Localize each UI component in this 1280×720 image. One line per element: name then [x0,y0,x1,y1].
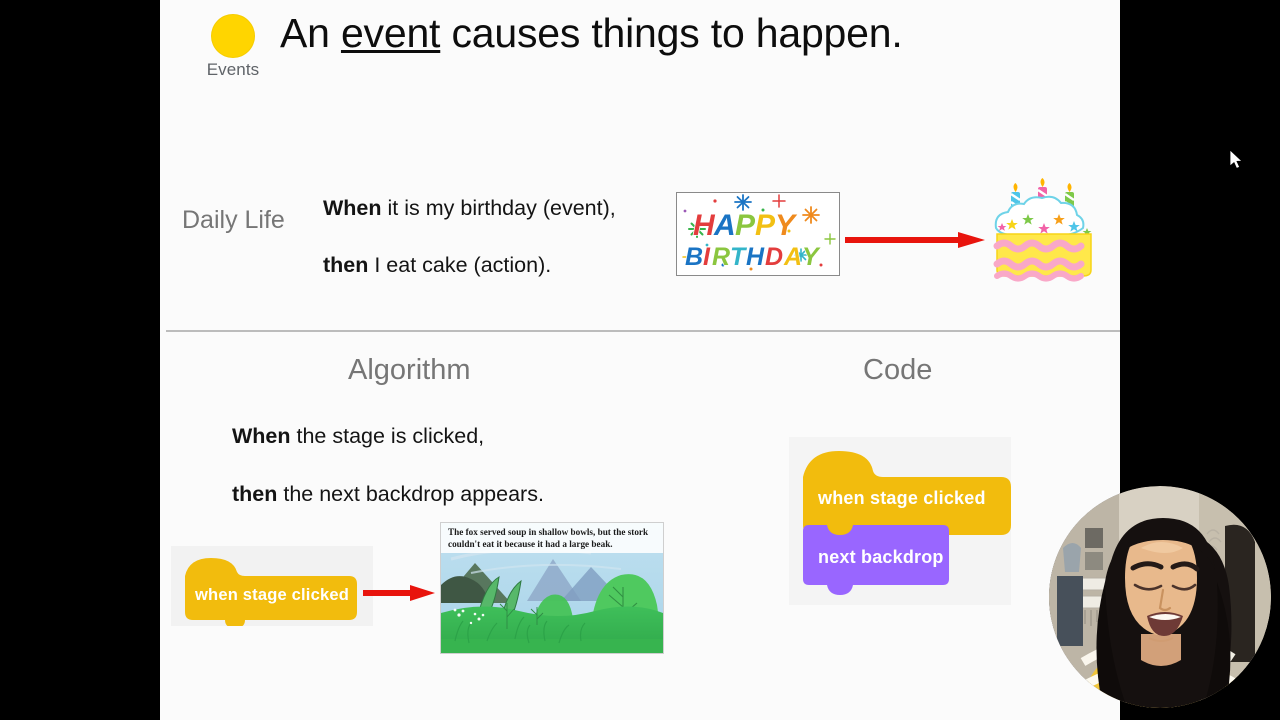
algorithm-then-text: the next backdrop appears. [277,482,544,506]
title-emphasis: event [341,10,440,56]
column-heading-code: Code [863,354,932,387]
svg-text:A: A [713,209,736,242]
events-category-badge: Events [188,8,278,80]
svg-text:D: D [765,243,783,271]
code-block-panel: when stage clicked next backdrop [789,437,1011,605]
algorithm-then-keyword: then [232,482,277,506]
svg-text:I: I [703,243,711,271]
presenter-webcam-bubble[interactable] [1049,486,1271,708]
algorithm-line-when: When the stage is clicked, [232,407,544,465]
algorithm-when-keyword: When [232,424,291,448]
section-divider [166,330,1120,332]
daily-life-when-keyword: When [323,196,382,220]
hat-block-label-algorithm[interactable]: when stage clicked [195,586,349,605]
daily-life-statement: When it is my birthday (event), then I e… [323,180,616,294]
daily-life-label: Daily Life [182,206,285,235]
algorithm-block-panel: when stage clicked [171,546,373,626]
title-suffix: causes things to happen. [440,10,902,56]
events-badge-label: Events [188,60,278,80]
mouse-cursor [1230,150,1246,172]
svg-text:P: P [735,209,756,242]
daily-life-line-when: When it is my birthday (event), [323,180,616,237]
svg-text:R: R [712,243,730,271]
backdrop-caption-text: The fox served soup in shallow bowls, bu… [441,523,663,553]
svg-text:A: A [783,243,802,271]
algorithm-when-text: the stage is clicked, [291,424,485,448]
algorithm-statement: When the stage is clicked, then the next… [232,407,544,523]
svg-text:H: H [693,209,716,242]
presentation-slide: Events An event causes things to happen.… [160,0,1120,720]
hat-block-label-code[interactable]: when stage clicked [818,488,986,509]
screen-root: Events An event causes things to happen.… [0,0,1280,720]
svg-text:Y: Y [775,209,798,242]
daily-life-line-then: then I eat cake (action). [323,237,616,294]
daily-life-then-keyword: then [323,253,368,277]
birthday-cake-image [986,176,1102,284]
page-title: An event causes things to happen. [280,10,903,57]
svg-text:H: H [746,243,765,271]
svg-text:P: P [755,209,776,242]
algorithm-arrow-icon [363,584,435,602]
column-heading-algorithm: Algorithm [348,354,471,387]
daily-life-when-text: it is my birthday (event), [382,196,616,220]
happy-birthday-card-image: H A P P Y B I R T H D A Y [676,192,840,276]
svg-text:Y: Y [802,243,821,271]
daily-life-then-text: I eat cake (action). [368,253,551,277]
events-circle-icon [211,14,255,58]
title-prefix: An [280,10,341,56]
algorithm-line-then: then the next backdrop appears. [232,465,544,523]
backdrop-thumbnail-image: The fox served soup in shallow bowls, bu… [440,522,664,654]
svg-text:B: B [685,243,703,271]
daily-life-arrow-icon [845,231,985,249]
stack-block-label-next-backdrop[interactable]: next backdrop [818,547,944,568]
